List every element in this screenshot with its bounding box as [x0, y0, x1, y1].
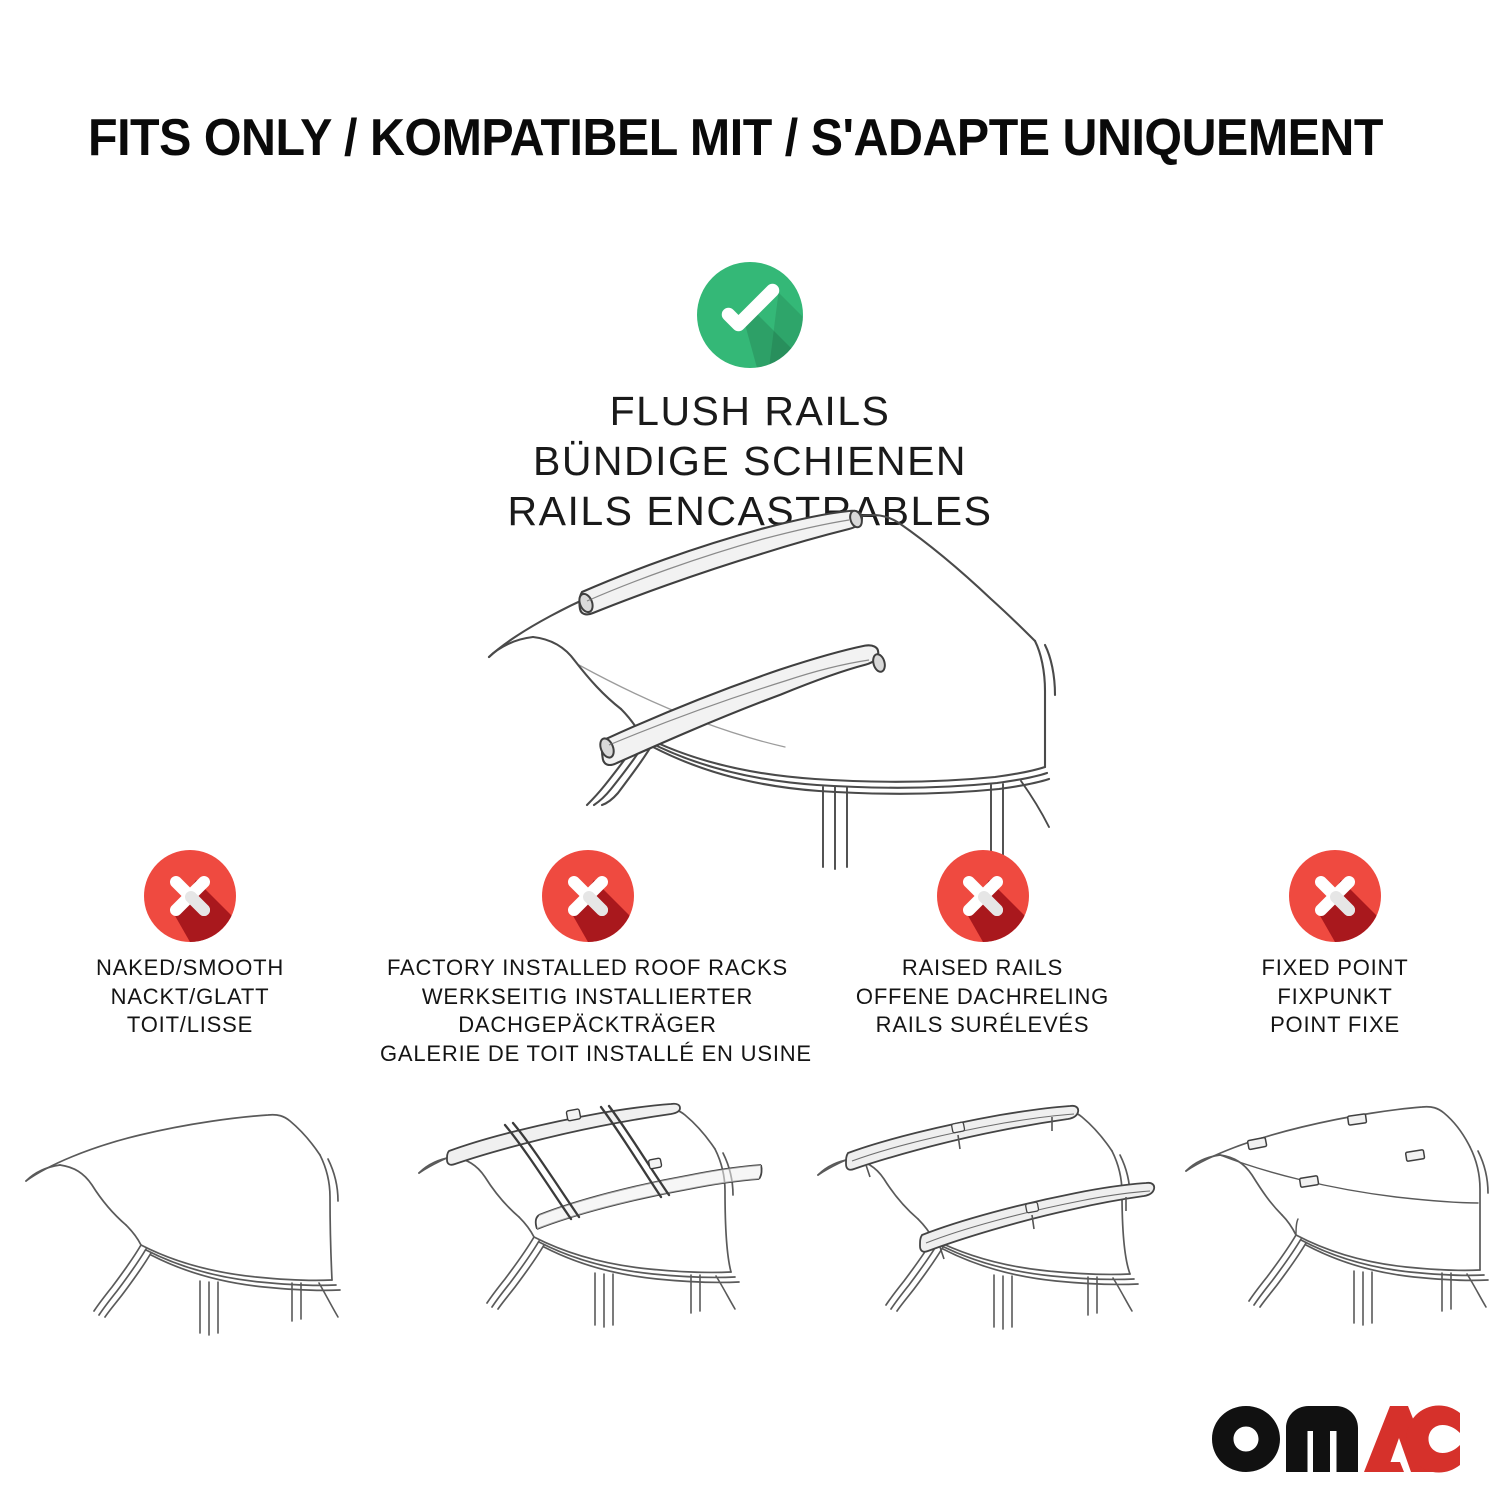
- label-line-de-1: WERKSEITIG INSTALLIERTER: [380, 983, 795, 1012]
- incompatible-labels-naked-smooth: NAKED/SMOOTH NACKT/GLATT TOIT/LISSE: [0, 954, 380, 1040]
- logo-letter-m: [1286, 1406, 1358, 1472]
- label-line-de: OFFENE DACHRELING: [795, 983, 1170, 1012]
- car-roof-raised-rails-illustration: [808, 1103, 1158, 1318]
- label-line-en: NAKED/SMOOTH: [0, 954, 380, 983]
- label-line-fr: GALERIE DE TOIT INSTALLÉ EN USINE: [380, 1040, 795, 1069]
- car-roof-factory-installed-roof-racks-illustration: [413, 1103, 763, 1318]
- green-check-circle-icon: [697, 262, 803, 368]
- incompatible-column-raised-rails: RAISED RAILS OFFENE DACHRELING RAILS SUR…: [795, 840, 1170, 1300]
- incompatible-labels-raised-rails: RAISED RAILS OFFENE DACHRELING RAILS SUR…: [795, 954, 1170, 1040]
- incompatible-column-fixed-point: FIXED POINT FIXPUNKT POINT FIXE: [1170, 840, 1500, 1300]
- label-line-en: FIXED POINT: [1170, 954, 1500, 983]
- incompatible-column-factory-roof-racks: FACTORY INSTALLED ROOF RACKS WERKSEITIG …: [380, 840, 795, 1300]
- label-line-de: FIXPUNKT: [1170, 983, 1500, 1012]
- incompatible-labels-factory-roof-racks: FACTORY INSTALLED ROOF RACKS WERKSEITIG …: [380, 954, 795, 1068]
- label-line-fr: TOIT/LISSE: [0, 1011, 380, 1040]
- label-line-de-2: DACHGEPÄCKTRÄGER: [380, 1011, 795, 1040]
- label-line-en: RAISED RAILS: [795, 954, 1170, 983]
- red-x-circle-icon: [937, 850, 1029, 942]
- incompatible-section: NAKED/SMOOTH NACKT/GLATT TOIT/LISSE: [0, 840, 1500, 1300]
- car-roof-naked-smooth-illustration: [20, 1103, 360, 1318]
- label-line-en: FACTORY INSTALLED ROOF RACKS: [380, 954, 795, 983]
- omac-logo: [1208, 1400, 1460, 1478]
- car-roof-with-flush-rails-illustration: [455, 495, 1055, 805]
- compatible-label-de: BÜNDIGE SCHIENEN: [0, 436, 1500, 486]
- fitment-compatibility-infographic: FITS ONLY / KOMPATIBEL MIT / S'ADAPTE UN…: [0, 0, 1500, 1500]
- label-line-de: NACKT/GLATT: [0, 983, 380, 1012]
- incompatible-labels-fixed-point: FIXED POINT FIXPUNKT POINT FIXE: [1170, 954, 1500, 1040]
- logo-letter-o: [1212, 1406, 1280, 1472]
- car-roof-fixed-point-illustration: [1170, 1103, 1500, 1318]
- page-title: FITS ONLY / KOMPATIBEL MIT / S'ADAPTE UN…: [88, 108, 1325, 168]
- incompatible-column-naked-smooth: NAKED/SMOOTH NACKT/GLATT TOIT/LISSE: [0, 840, 380, 1300]
- red-x-circle-icon: [144, 850, 236, 942]
- red-x-circle-icon: [1289, 850, 1381, 942]
- label-line-fr: RAILS SURÉLEVÉS: [795, 1011, 1170, 1040]
- compatible-label-en: FLUSH RAILS: [0, 386, 1500, 436]
- red-x-circle-icon: [542, 850, 634, 942]
- label-line-fr: POINT FIXE: [1170, 1011, 1500, 1040]
